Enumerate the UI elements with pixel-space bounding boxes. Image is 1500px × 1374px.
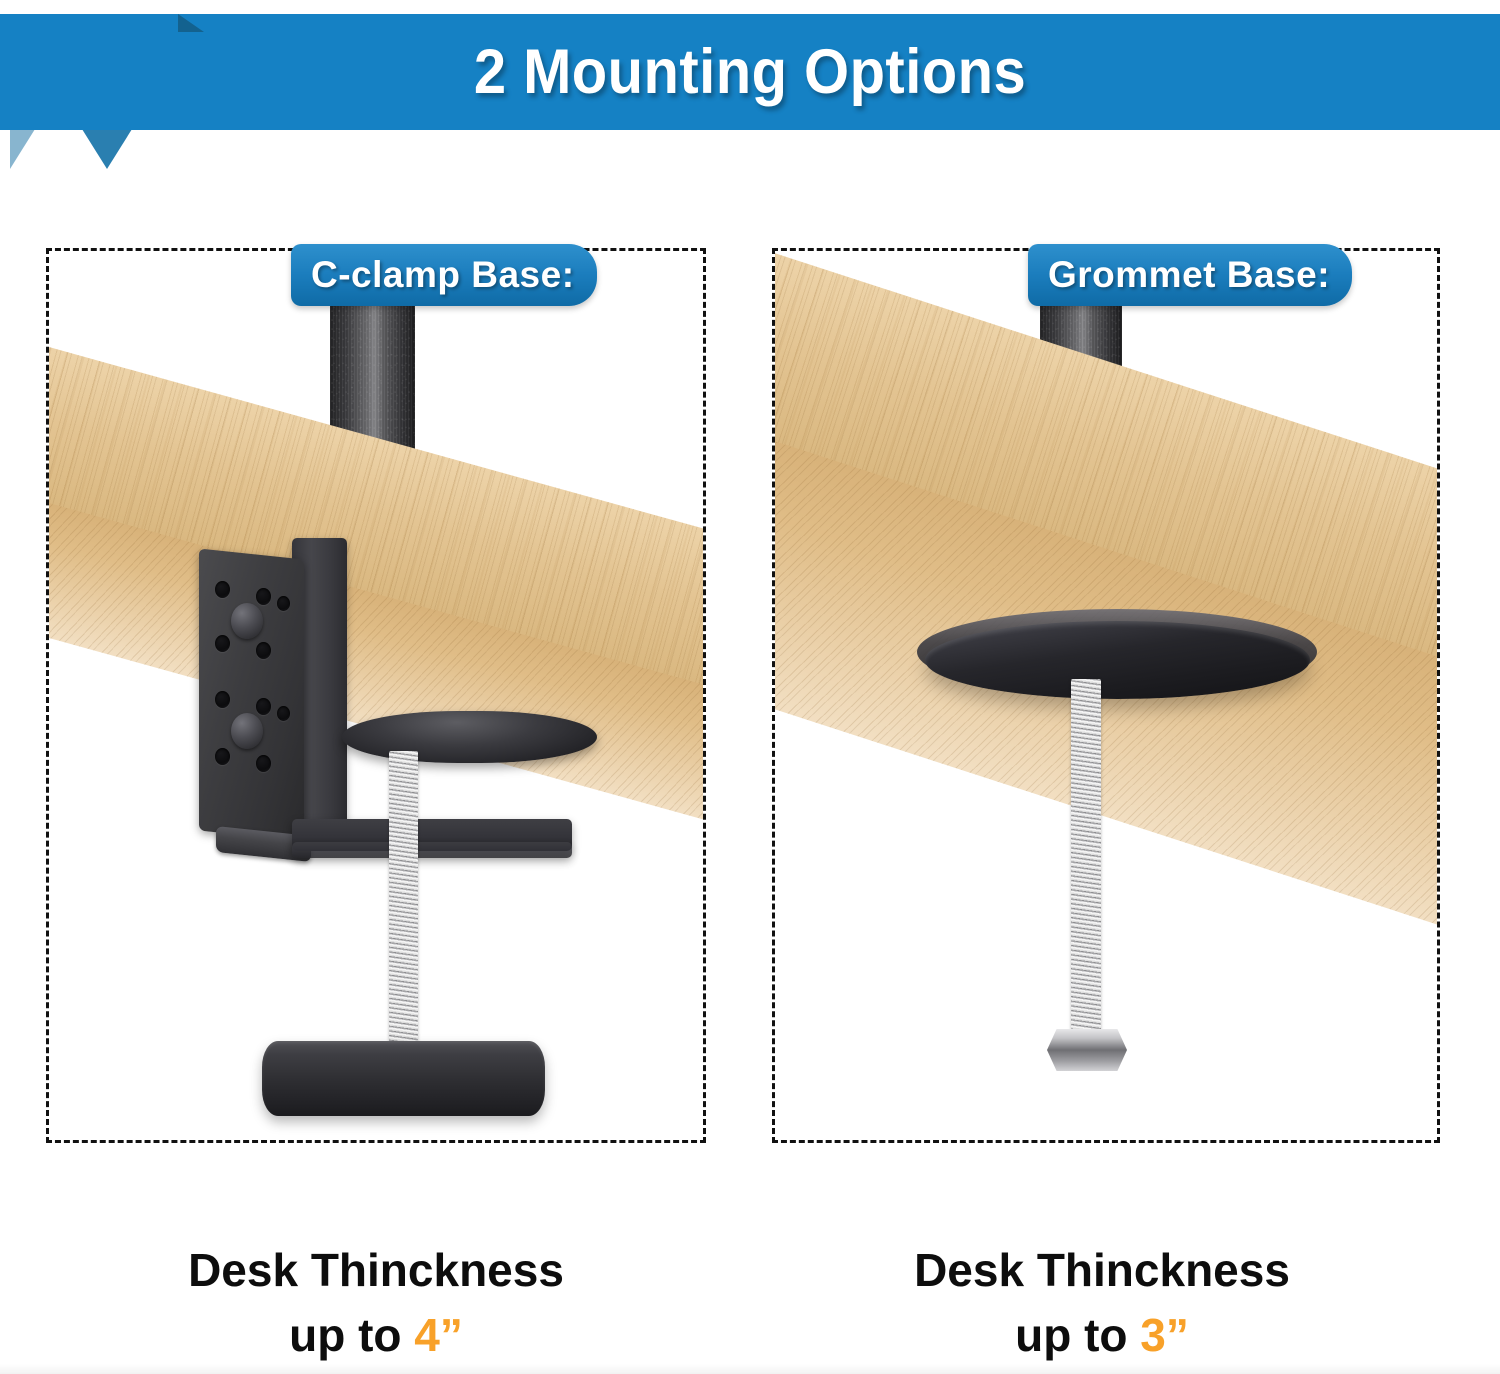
tag-grommet-label: Grommet Base: bbox=[1048, 254, 1330, 296]
adjust-knob bbox=[262, 1041, 545, 1116]
header-banner: 2 Mounting Options bbox=[0, 14, 1500, 130]
threaded-bolt bbox=[1071, 679, 1101, 1041]
caption-c-clamp: Desk Thinckness up to 4” bbox=[46, 1238, 706, 1369]
caption-c-clamp-measure: 4” bbox=[414, 1309, 463, 1361]
threaded-bolt bbox=[389, 751, 418, 1066]
plate-hole bbox=[215, 748, 230, 765]
tag-c-clamp-label: C-clamp Base: bbox=[311, 254, 575, 296]
grommet-scene bbox=[775, 251, 1437, 1140]
plate-hole bbox=[256, 642, 271, 659]
plate-hole bbox=[277, 706, 290, 721]
plate-hole bbox=[256, 588, 271, 605]
caption-c-clamp-prefix: up to bbox=[289, 1309, 414, 1361]
plate-rivet bbox=[231, 603, 263, 639]
c-clamp-scene bbox=[49, 251, 703, 1140]
plate-hole bbox=[215, 581, 230, 598]
caption-grommet: Desk Thinckness up to 3” bbox=[772, 1238, 1432, 1369]
bottom-edge-shadow bbox=[0, 1364, 1500, 1374]
caption-c-clamp-line2: up to 4” bbox=[46, 1303, 706, 1368]
panel-c-clamp bbox=[46, 248, 706, 1143]
plate-rivet bbox=[231, 713, 263, 749]
plate-hole bbox=[277, 596, 290, 611]
clamp-lower-arm-front bbox=[292, 842, 572, 858]
page-title: 2 Mounting Options bbox=[60, 14, 1440, 130]
plate-hole bbox=[215, 691, 230, 708]
plate-hole bbox=[256, 698, 271, 715]
grommet-pad bbox=[925, 621, 1310, 699]
clamp-washer bbox=[342, 711, 597, 763]
caption-c-clamp-line1: Desk Thinckness bbox=[188, 1244, 564, 1296]
panel-grommet bbox=[772, 248, 1440, 1143]
tag-grommet-base: Grommet Base: bbox=[1028, 244, 1352, 306]
tag-c-clamp-base: C-clamp Base: bbox=[291, 244, 597, 306]
plate-hole bbox=[215, 635, 230, 652]
plate-hole bbox=[256, 755, 271, 772]
caption-grommet-line2: up to 3” bbox=[772, 1303, 1432, 1368]
hex-nut bbox=[1047, 1029, 1127, 1071]
caption-grommet-prefix: up to bbox=[1015, 1309, 1140, 1361]
caption-grommet-measure: 3” bbox=[1140, 1309, 1189, 1361]
caption-grommet-line1: Desk Thinckness bbox=[914, 1244, 1290, 1296]
